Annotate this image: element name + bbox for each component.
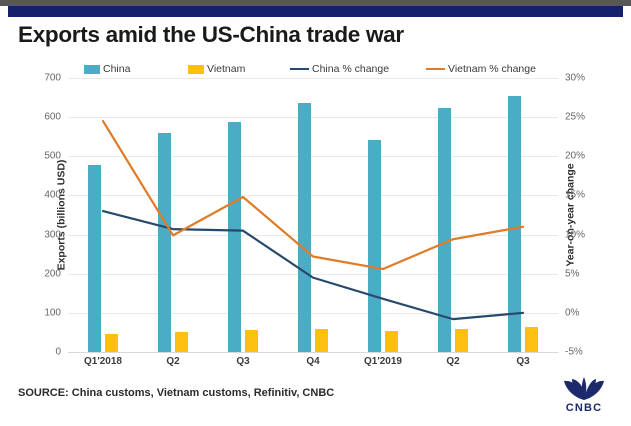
y-axis-right-tick: -5%	[565, 347, 583, 358]
chart-plot-area: Exports (billions USD) Year-on-year chan…	[68, 78, 558, 352]
y-axis-left-tick: 600	[44, 112, 61, 123]
legend-item-china[interactable]: China	[84, 63, 130, 75]
x-axis-labels: Q1'2018Q2Q3Q4Q1'2019Q2Q3	[68, 356, 558, 372]
legend-swatch-china-bar	[84, 65, 100, 74]
y-axis-right-tick: 25%	[565, 112, 585, 123]
y-axis-left-tick: 0	[55, 347, 61, 358]
line-series-layer	[68, 78, 558, 352]
page-title: Exports amid the US-China trade war	[18, 22, 404, 48]
legend-item-vietnam-pct[interactable]: Vietnam % change	[426, 63, 536, 75]
y-axis-left-tick: 100	[44, 307, 61, 318]
legend-swatch-vietnam-bar	[188, 65, 204, 74]
y-axis-right-tick: 15%	[565, 190, 585, 201]
x-axis-label-1: Q2	[166, 356, 179, 367]
source-note: SOURCE: China customs, Vietnam customs, …	[18, 387, 334, 399]
x-axis-label-6: Q3	[516, 356, 529, 367]
x-axis-label-5: Q2	[446, 356, 459, 367]
y-axis-right-tick: 10%	[565, 229, 585, 240]
cnbc-logo-text: CNBC	[566, 402, 603, 414]
x-axis-label-0: Q1'2018	[84, 356, 122, 367]
y-axis-left-title: Exports (billions USD)	[55, 160, 67, 271]
cnbc-peacock-logo: CNBC	[553, 374, 615, 416]
x-axis-label-2: Q3	[236, 356, 249, 367]
legend-label-vietnam-pct: Vietnam % change	[448, 63, 536, 75]
line-china-change[interactable]	[103, 211, 523, 319]
y-axis-left-tick: 700	[44, 73, 61, 84]
slide-canvas: Exports amid the US-China trade war Chin…	[0, 0, 631, 426]
y-axis-left-tick: 500	[44, 151, 61, 162]
legend-swatch-vietnam-line	[426, 68, 445, 71]
slide-header-band	[8, 6, 623, 17]
legend-label-vietnam: Vietnam	[207, 63, 245, 75]
legend-swatch-china-line	[290, 68, 309, 71]
y-axis-left-tick: 200	[44, 268, 61, 279]
line-vietnam-change[interactable]	[103, 121, 523, 269]
y-axis-right-tick: 5%	[565, 268, 579, 279]
gridline	[68, 352, 558, 353]
y-axis-right-tick: 30%	[565, 73, 585, 84]
y-axis-right-tick: 0%	[565, 307, 579, 318]
legend-label-china: China	[103, 63, 130, 75]
x-axis-label-4: Q1'2019	[364, 356, 402, 367]
y-axis-left-tick: 300	[44, 229, 61, 240]
legend-label-china-pct: China % change	[312, 63, 389, 75]
legend-item-china-pct[interactable]: China % change	[290, 63, 389, 75]
x-axis-label-3: Q4	[306, 356, 319, 367]
y-axis-right-tick: 20%	[565, 151, 585, 162]
legend-item-vietnam[interactable]: Vietnam	[188, 63, 245, 75]
chart-legend: China Vietnam China % change Vietnam % c…	[78, 63, 558, 79]
y-axis-right-title: Year-on-year change	[564, 163, 576, 266]
y-axis-left-tick: 400	[44, 190, 61, 201]
